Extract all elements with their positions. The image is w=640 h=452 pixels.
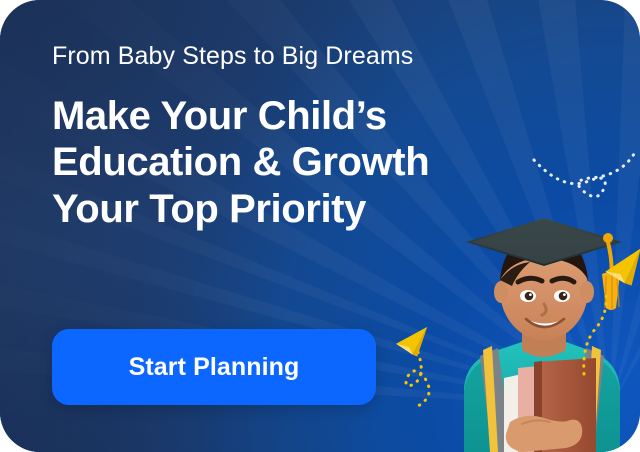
banner-headline: Make Your Child’s Education & Growth You…	[52, 93, 532, 232]
headline-line-2: Education & Growth	[52, 139, 532, 185]
headline-line-3: Your Top Priority	[52, 186, 532, 232]
promo-banner: From Baby Steps to Big Dreams Make Your …	[0, 0, 640, 452]
headline-line-1: Make Your Child’s	[52, 93, 532, 139]
start-planning-button[interactable]: Start Planning	[52, 329, 376, 405]
banner-eyebrow: From Baby Steps to Big Dreams	[52, 44, 532, 69]
banner-copy: From Baby Steps to Big Dreams Make Your …	[52, 44, 532, 232]
